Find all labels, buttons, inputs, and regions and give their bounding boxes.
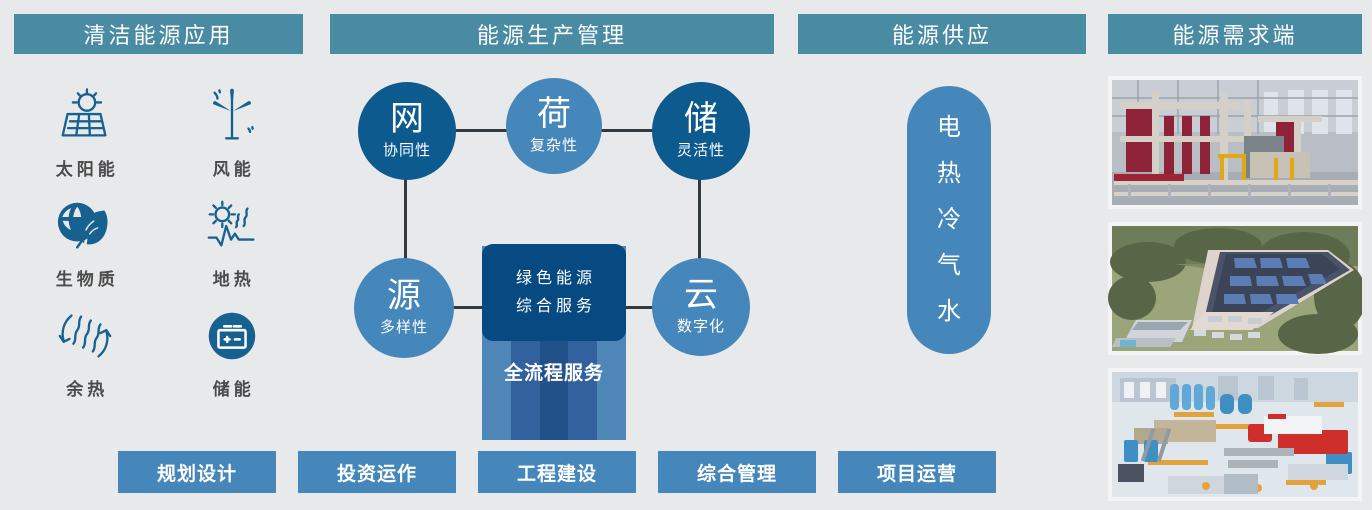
waste-heat-icon [53,304,117,368]
diagram-node-wang[interactable]: 网 协同性 [358,82,456,180]
diagram-node-chu[interactable]: 储 灵活性 [652,82,750,180]
header-demand-side-label: 能源需求端 [1172,18,1297,50]
clean-energy-label-biomass: 生物质 [52,265,119,290]
process-button-project-operation[interactable]: 项目运营 [838,451,996,493]
clean-energy-label-geothermal: 地热 [209,265,255,290]
diagram-node-yun-title: 云 [684,278,718,314]
diagram-node-chu-title: 储 [684,102,718,138]
solar-panel-icon [53,84,117,148]
process-button-planning-design[interactable]: 规划设计 [118,451,276,493]
header-demand-side: 能源需求端 [1108,14,1362,54]
green-energy-service-card[interactable]: 绿色能源 综合服务 [482,244,626,341]
connector-chu-yun [698,174,701,266]
diagram-node-yun[interactable]: 云 数字化 [652,258,750,356]
header-clean-energy: 清洁能源应用 [14,14,303,54]
energy-production-diagram: 网 协同性 荷 复杂性 储 灵活性 源 多样性 云 数字化 绿色能源 综合服务 … [330,78,774,440]
full-process-service-label: 全流程服务 [482,358,626,385]
geothermal-icon [200,194,264,258]
diagram-node-he[interactable]: 荷 复杂性 [506,78,602,174]
solar-rooftop-aerial-photo[interactable] [1108,222,1362,355]
process-button-engineering-construction[interactable]: 工程建设 [478,451,636,493]
green-energy-service-line1: 绿色能源 [512,265,596,292]
clean-energy-label-wind: 风能 [209,155,255,180]
process-button-comprehensive-management[interactable]: 综合管理 [658,451,816,493]
energy-supply-char-gas: 气 [937,254,961,278]
clean-energy-item-wind[interactable]: 风能 [161,78,304,188]
clean-energy-item-geothermal[interactable]: 地热 [161,188,304,298]
diagram-node-chu-subtitle: 灵活性 [677,139,725,160]
green-energy-service-line2: 综合服务 [512,293,596,320]
connector-wang-he [448,129,514,132]
process-button-engineering-construction-label: 工程建设 [517,459,597,486]
clean-energy-icon-grid: 太阳能 风能 生物质 [14,78,303,408]
energy-supply-char-electricity: 电 [937,116,961,140]
header-production-management-label: 能源生产管理 [477,18,627,50]
diagram-node-he-title: 荷 [537,97,571,133]
biomass-leaf-globe-icon [53,194,117,258]
diagram-node-yuan-title: 源 [387,279,421,315]
clean-energy-label-waste-heat: 余热 [62,375,108,400]
process-button-planning-design-label: 规划设计 [157,459,237,486]
clean-energy-item-biomass[interactable]: 生物质 [14,188,157,298]
energy-supply-char-heat: 热 [937,162,961,186]
process-button-comprehensive-management-label: 综合管理 [697,459,777,486]
process-button-investment-operation[interactable]: 投资运作 [298,451,456,493]
clean-energy-item-storage[interactable]: 储能 [161,298,304,408]
diagram-node-wang-subtitle: 协同性 [383,139,431,160]
diagram-node-he-subtitle: 复杂性 [530,134,578,155]
header-clean-energy-label: 清洁能源应用 [83,18,233,50]
header-energy-supply-label: 能源供应 [892,18,992,50]
connector-he-chu [594,129,660,132]
diagram-node-wang-title: 网 [390,102,424,138]
clean-energy-label-solar: 太阳能 [52,155,119,180]
header-production-management: 能源生产管理 [330,14,774,54]
clean-energy-item-waste-heat[interactable]: 余热 [14,298,157,408]
factory-press-line-photo[interactable] [1108,76,1362,209]
diagram-node-yuan[interactable]: 源 多样性 [354,258,454,358]
diagram-node-yun-subtitle: 数字化 [677,315,725,336]
clean-energy-item-solar[interactable]: 太阳能 [14,78,157,188]
center-service-stack: 绿色能源 综合服务 全流程服务 [482,246,626,440]
diagram-node-yuan-subtitle: 多样性 [380,316,428,337]
process-button-investment-operation-label: 投资运作 [337,459,417,486]
wind-turbine-icon [200,84,264,148]
clean-energy-label-storage: 储能 [209,375,255,400]
energy-supply-capsule: 电 热 冷 气 水 [907,86,991,354]
energy-supply-char-cooling: 冷 [937,208,961,232]
production-line-render-photo[interactable] [1108,368,1362,501]
header-energy-supply: 能源供应 [798,14,1086,54]
battery-storage-icon [200,304,264,368]
connector-wang-yuan [404,174,407,266]
energy-supply-char-water: 水 [937,300,961,324]
process-button-project-operation-label: 项目运营 [877,459,957,486]
